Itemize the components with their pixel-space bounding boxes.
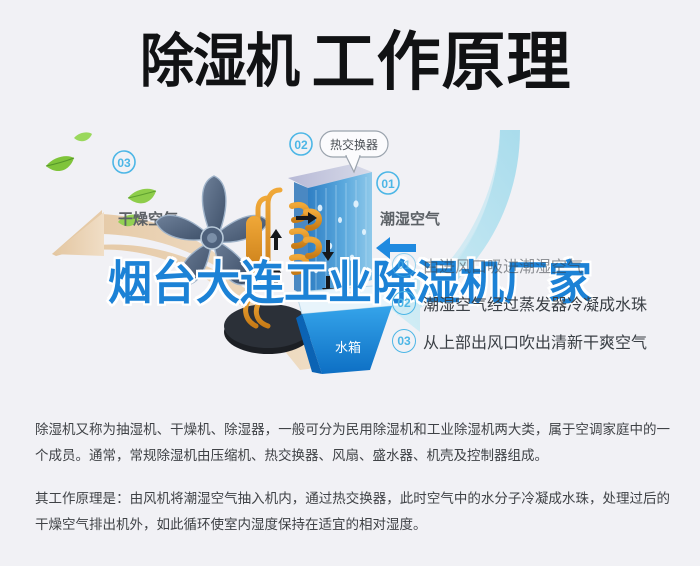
dry-air-badge: 03 (113, 151, 135, 173)
humid-air-badge: 01 (377, 172, 399, 194)
svg-text:热交换器: 热交换器 (330, 137, 378, 152)
page-title-part1: 除湿机 (140, 33, 299, 91)
description-paragraph-1: 除湿机又称为抽湿机、干燥机、除湿器，一般可分为民用除湿机和工业除湿机两大类，属于… (35, 417, 670, 470)
description-block: 除湿机又称为抽湿机、干燥机、除湿器，一般可分为民用除湿机和工业除湿机两大类，属于… (35, 417, 670, 538)
step-label: 潮湿空气经过蒸发器冷凝成水珠 (423, 291, 647, 315)
svg-text:01: 01 (381, 177, 395, 191)
leaf-icon (128, 189, 156, 204)
page-title: 除湿机工作原理 (0, 30, 700, 94)
infographic-page: 除湿机工作原理 (0, 0, 700, 566)
humid-air-label: 潮湿空气 (380, 210, 440, 228)
step-number: 03 (392, 329, 416, 353)
svg-text:02: 02 (294, 138, 308, 152)
step-item: 02 潮湿空气经过蒸发器冷凝成水珠 (392, 286, 692, 320)
step-label: 从上部出风口吹出清新干爽空气 (423, 329, 647, 353)
water-tank-label: 水箱 (335, 340, 361, 355)
svg-text:03: 03 (117, 156, 131, 170)
heat-exchanger-badge: 02 (290, 133, 312, 155)
step-label: 由进风口吸进潮湿空气 (423, 253, 583, 277)
step-number: 02 (392, 291, 416, 315)
page-title-part2: 工作原理 (312, 30, 572, 94)
step-item: 01 由进风口吸进潮湿空气 (392, 248, 692, 282)
step-list: 01 由进风口吸进潮湿空气 02 潮湿空气经过蒸发器冷凝成水珠 03 从上部出风… (392, 248, 692, 362)
heat-exchanger-callout: 热交换器 (320, 131, 388, 172)
leaf-icon (74, 132, 92, 141)
step-number: 01 (392, 253, 416, 277)
description-paragraph-2: 其工作原理是：由风机将潮湿空气抽入机内，通过热交换器，此时空气中的水分子冷凝成水… (35, 486, 670, 539)
step-item: 03 从上部出风口吹出清新干爽空气 (392, 324, 692, 358)
leaf-icon (46, 156, 74, 171)
